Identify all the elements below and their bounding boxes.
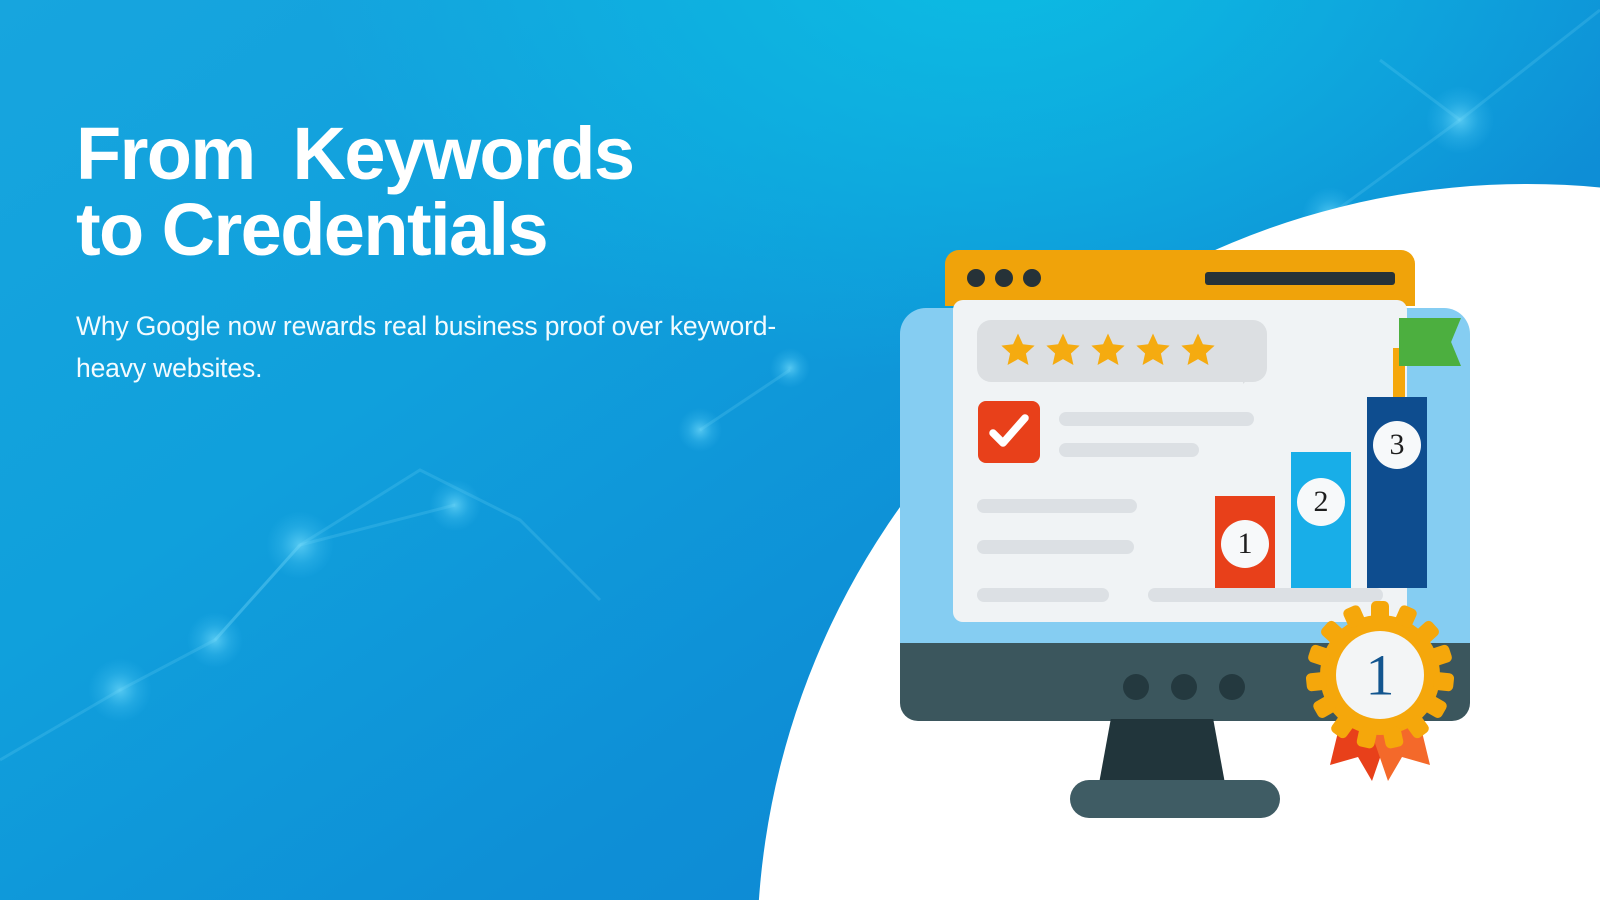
chart-bar-label: 3 [1373,421,1421,469]
award-badge-number: 1 [1366,643,1395,708]
review-bubble [977,320,1267,382]
skeleton-line [977,540,1134,554]
skeleton-line [1059,412,1254,426]
browser-titlebar [945,250,1415,306]
banner-canvas: From Keywords to Credentials Why Google … [0,0,1600,900]
traffic-light-icons[interactable] [967,269,1041,287]
checkmark-icon [989,414,1029,450]
headline-block: From Keywords to Credentials Why Google … [76,116,836,389]
award-ribbon-icon: 1 [1300,595,1460,795]
monitor-stand-neck [1098,719,1226,789]
browser-page-content: 1 2 3 [953,300,1407,622]
star-rating [999,331,1217,369]
monitor-stand-base [1070,780,1280,818]
star-icon [999,331,1037,369]
browser-window: 1 2 3 [945,250,1415,625]
chart-bar: 1 [1215,496,1275,588]
address-bar[interactable] [1205,272,1395,285]
star-icon [1044,331,1082,369]
seo-illustration: 1 2 3 [880,230,1520,820]
award-badge: 1 [1300,595,1460,795]
monitor-indicator-dots [1123,674,1245,700]
chart-bar-label: 1 [1221,520,1269,568]
verified-check-badge [978,401,1040,463]
chart-bar-label: 2 [1297,478,1345,526]
star-icon [1134,331,1172,369]
star-icon [1089,331,1127,369]
skeleton-line [977,588,1109,602]
skeleton-line [1059,443,1199,457]
chart-bar: 2 [1291,452,1351,588]
chart-bar: 3 [1367,397,1427,588]
skeleton-line [977,499,1137,513]
star-icon [1179,331,1217,369]
page-subtitle: Why Google now rewards real business pro… [76,306,821,388]
page-title: From Keywords to Credentials [76,116,836,268]
